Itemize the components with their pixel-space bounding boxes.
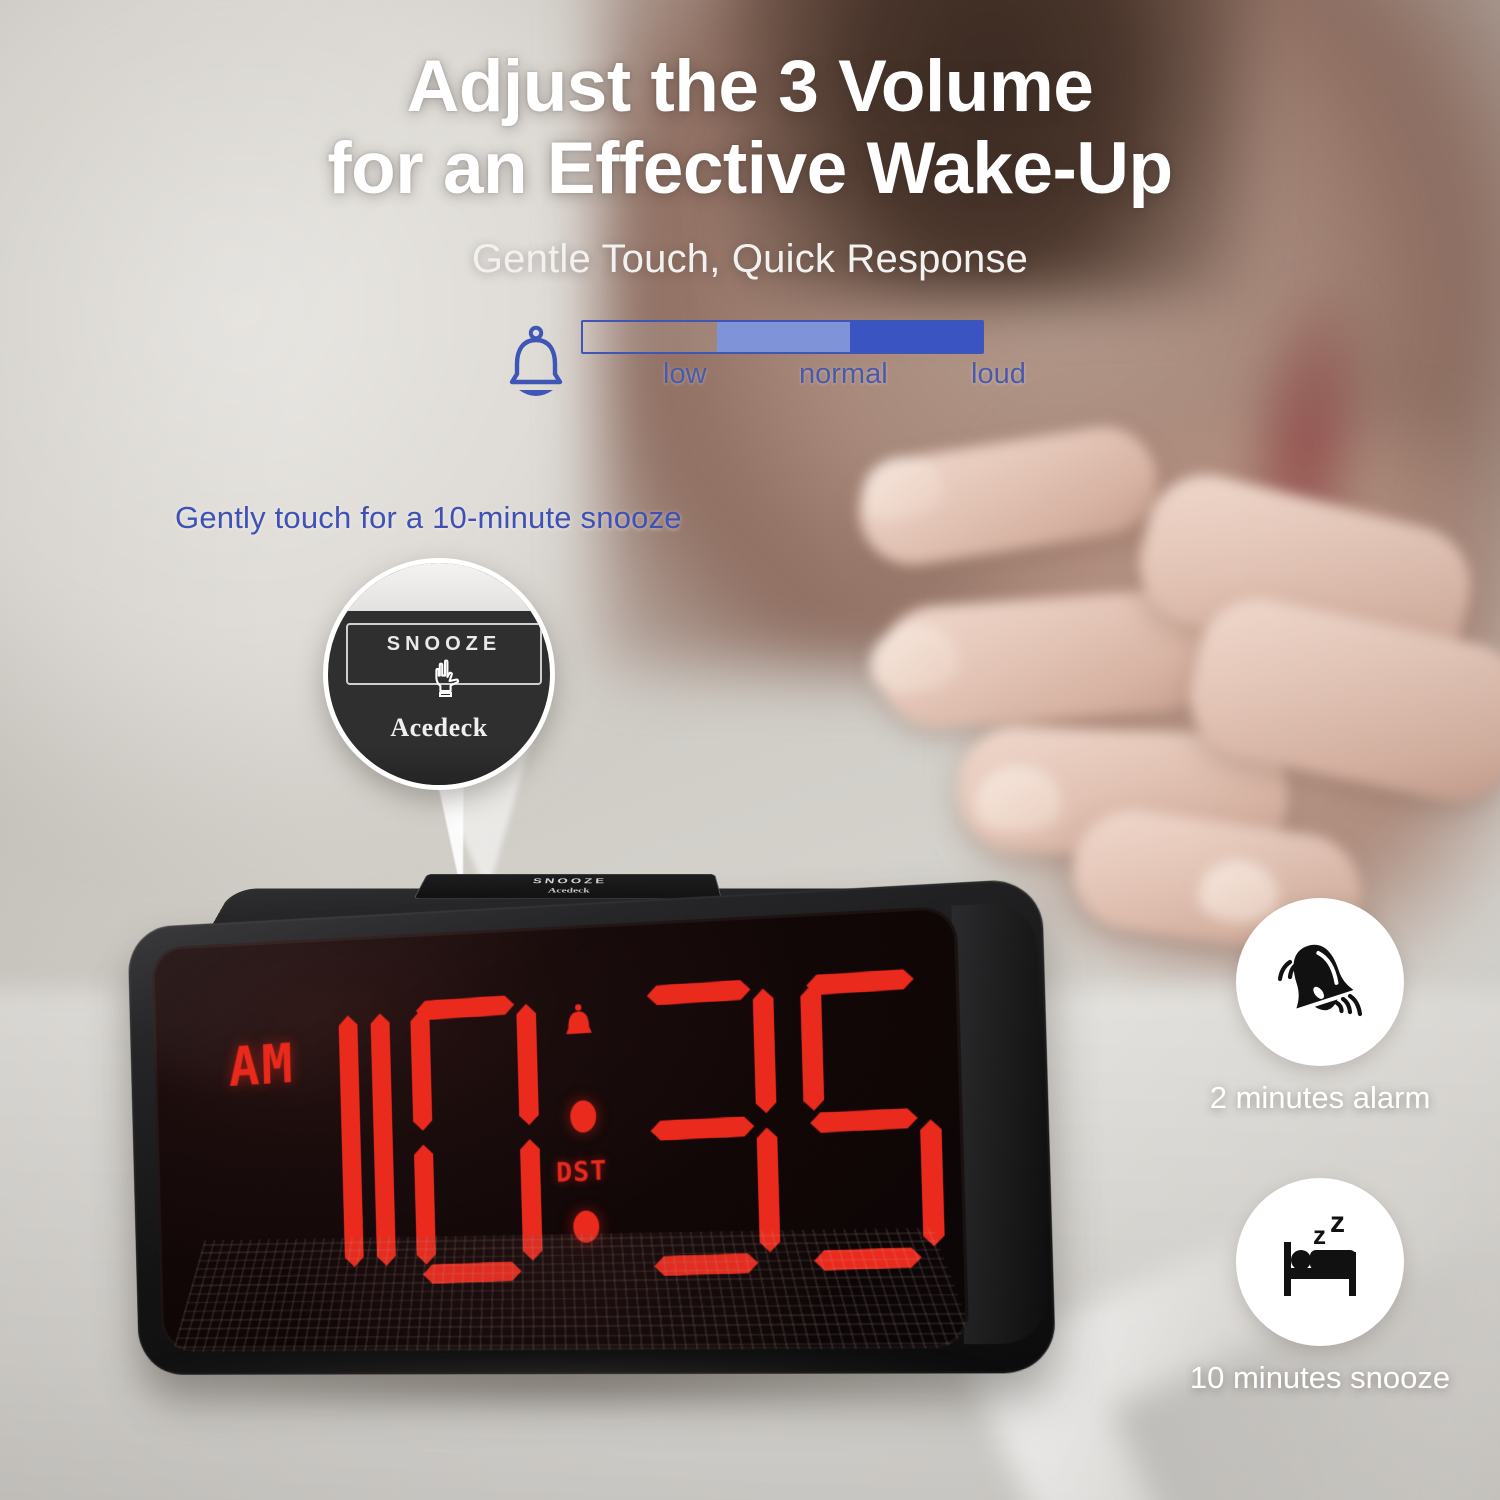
clock-led-screen: AM [151, 906, 969, 1352]
svg-text:z: z [1313, 1220, 1326, 1250]
headline: Adjust the 3 Volume for an Effective Wak… [0, 46, 1500, 211]
clock-housing: AM [127, 878, 1056, 1375]
volume-segment-normal[interactable] [717, 322, 849, 352]
volume-bar[interactable] [581, 320, 984, 354]
callout-snooze-button[interactable]: SNOOZE [346, 623, 542, 685]
bell-outline-icon [505, 324, 567, 402]
snooze-instruction-text: Gently touch for a 10-minute snooze [175, 500, 682, 536]
callout-brand-label: Acedeck [328, 713, 550, 743]
volume-segment-loud[interactable] [850, 322, 982, 352]
volume-label-loud: loud [971, 358, 1026, 391]
pointing-hand-icon [432, 658, 466, 698]
snooze-zoom-callout: SNOOZE Acedeck [323, 558, 555, 790]
speaker-grille [171, 1228, 969, 1352]
volume-label-normal: normal [799, 358, 888, 391]
badge-label-alarm: 2 minutes alarm [1130, 1080, 1500, 1116]
badge-circle-alarm [1236, 898, 1404, 1066]
volume-indicator: low normal loud [505, 320, 984, 402]
callout-device-top-edge [328, 563, 550, 611]
led-meridiem: AM [228, 1032, 295, 1099]
callout-bottom-shade [328, 745, 550, 785]
volume-segment-low[interactable] [583, 322, 717, 352]
svg-text:z: z [1330, 1206, 1345, 1239]
clock-brand-label: Acedeck [417, 887, 719, 894]
clock-snooze-touch-button[interactable]: SNOOZE Acedeck [413, 874, 722, 899]
led-colon-dot-top [570, 1100, 597, 1133]
volume-labels: low normal loud [581, 358, 984, 394]
headline-line-1: Adjust the 3 Volume [407, 46, 1094, 127]
alarm-clock-device: SNOOZE Acedeck AM [95, 862, 1040, 1384]
clock-snooze-label: SNOOZE [422, 877, 717, 885]
bed-sleep-zzz-icon: z z [1264, 1206, 1376, 1318]
ringing-bell-icon [1264, 926, 1376, 1038]
volume-label-low: low [663, 358, 707, 391]
feature-badge-snooze: z z 10 minutes snooze [1130, 1178, 1500, 1396]
callout-snooze-label: SNOOZE [348, 633, 540, 656]
feature-badge-alarm: 2 minutes alarm [1130, 898, 1500, 1116]
led-bell-icon [561, 1001, 596, 1047]
badge-circle-snooze: z z [1236, 1178, 1404, 1346]
headline-line-2: for an Effective Wake-Up [0, 128, 1500, 210]
subheadline: Gentle Touch, Quick Response [0, 237, 1500, 282]
badge-label-snooze: 10 minutes snooze [1130, 1360, 1500, 1396]
led-dst-label: DST [556, 1155, 608, 1188]
clock-drop-shadow [125, 1360, 1005, 1412]
